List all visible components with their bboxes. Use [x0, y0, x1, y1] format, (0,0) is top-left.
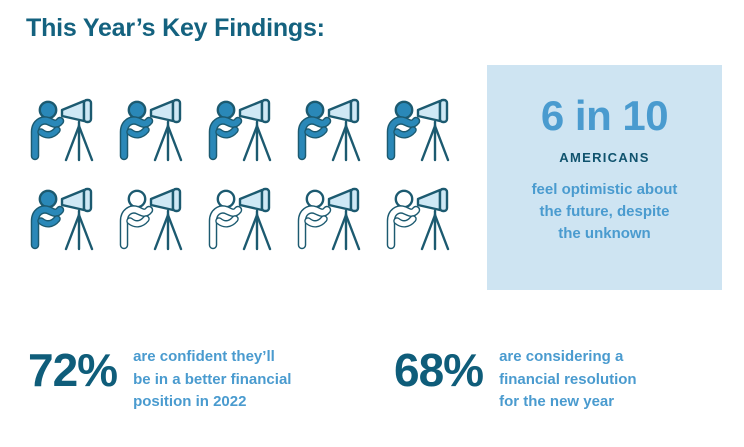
highlight-stat-value: 6 in 10 — [541, 95, 668, 137]
bottom-stats-row: 72% are confident they’llbe in a better … — [0, 330, 744, 414]
text-line: financial resolution — [499, 371, 637, 388]
text-line: the unknown — [558, 225, 651, 242]
person-telescope-icon — [111, 88, 200, 177]
stat-percent-2: 68% — [394, 347, 483, 393]
person-telescope-icon — [200, 177, 289, 266]
text-line: are considering a — [499, 348, 623, 365]
person-telescope-icon — [378, 177, 467, 266]
person-telescope-icon — [200, 88, 289, 177]
stat-text-2: are considering afinancial resolutionfor… — [499, 346, 637, 414]
stat-block-1: 72% are confident they’llbe in a better … — [0, 330, 372, 414]
text-line: feel optimistic about — [532, 181, 678, 198]
highlight-stat-description: feel optimistic aboutthe future, despite… — [532, 179, 678, 244]
text-line: position in 2022 — [133, 393, 246, 410]
person-telescope-icon — [22, 177, 111, 266]
text-line: are confident they’ll — [133, 348, 275, 365]
person-telescope-icon — [111, 177, 200, 266]
person-telescope-icon — [289, 88, 378, 177]
page-title: This Year’s Key Findings: — [26, 14, 325, 43]
stat-text-1: are confident they’llbe in a better fina… — [133, 346, 291, 414]
person-telescope-icon — [378, 88, 467, 177]
stat-block-2: 68% are considering afinancial resolutio… — [372, 330, 744, 414]
text-line: be in a better financial — [133, 371, 291, 388]
person-telescope-icon — [289, 177, 378, 266]
icon-grid — [22, 88, 467, 266]
stat-percent-1: 72% — [28, 347, 117, 393]
text-line: for the new year — [499, 393, 614, 410]
person-telescope-icon — [22, 88, 111, 177]
highlight-stat-box: 6 in 10 AMERICANS feel optimistic aboutt… — [487, 65, 722, 290]
text-line: the future, despite — [539, 203, 669, 220]
highlight-stat-subject: AMERICANS — [559, 150, 649, 165]
